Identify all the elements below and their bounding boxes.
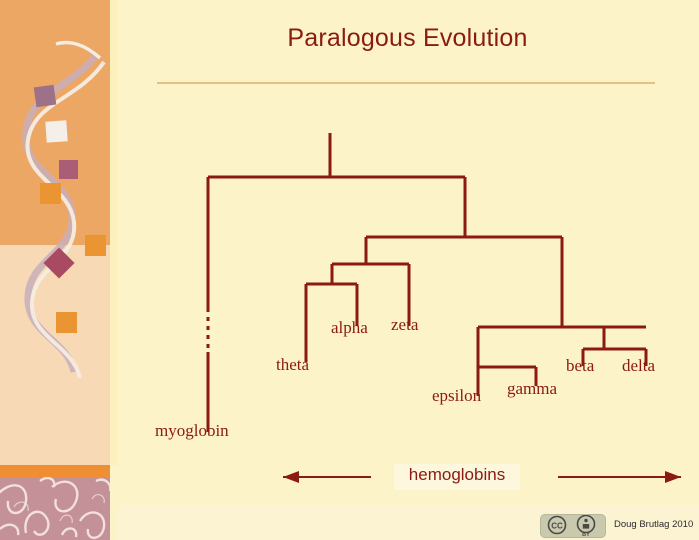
left-arrow-head [283, 471, 299, 483]
cc-by-icon: CC BY [541, 515, 605, 537]
by-person-head-icon [584, 519, 587, 522]
cc-text-label: CC [551, 522, 563, 531]
slide-root: Paralogous Evolution myoglobinthetaalpha… [0, 0, 699, 540]
by-text-label: BY [582, 532, 590, 537]
author-credit: Doug Brutlag 2010 [614, 519, 693, 530]
creative-commons-badge: CC BY [540, 514, 606, 538]
hemoglobins-range-arrows [0, 0, 699, 540]
by-person-body-icon [583, 524, 589, 529]
footer-strip [118, 505, 699, 540]
right-arrow-head [665, 471, 681, 483]
